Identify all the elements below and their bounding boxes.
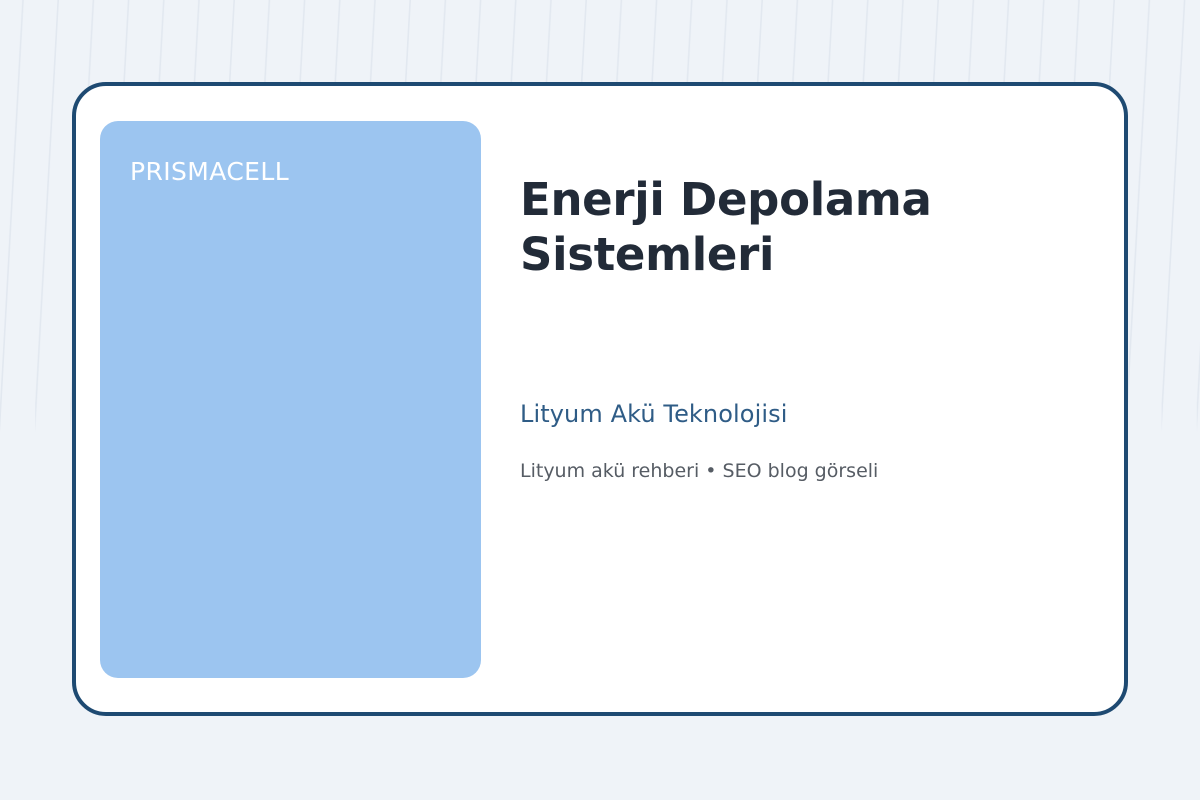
subtitle: Lityum Akü Teknolojisi (520, 400, 1084, 429)
hero-card: PRISMACELL Enerji Depolama Sistemleri Li… (72, 82, 1128, 716)
page-title: Enerji Depolama Sistemleri (520, 172, 1040, 283)
card-content: Enerji Depolama Sistemleri Lityum Akü Te… (520, 86, 1124, 712)
brand-name-label: PRISMACELL (130, 159, 289, 184)
brand-image-panel: PRISMACELL (100, 121, 481, 678)
caption-text: Lityum akü rehberi • SEO blog görseli (520, 460, 1084, 483)
